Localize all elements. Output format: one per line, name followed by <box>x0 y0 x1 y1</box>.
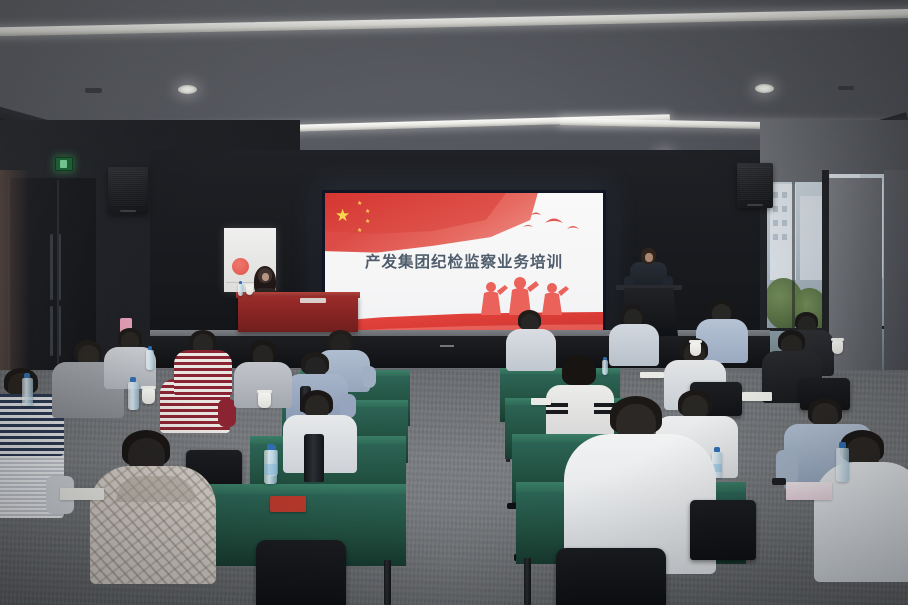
handout-document <box>531 398 551 405</box>
small-star-icon: ★ <box>357 228 362 234</box>
wristwatch <box>772 478 786 485</box>
ceramic-tea-mug <box>142 388 155 404</box>
red-draped-head-table <box>238 296 358 332</box>
big-star-icon: ★ <box>335 207 350 224</box>
conference-chair[interactable] <box>556 548 666 605</box>
pink-handout <box>786 482 832 500</box>
water-bottle <box>146 350 154 370</box>
photo-scene: ★ ★ ★ ★ ★ 产发集团纪检监察业务培训 <box>0 0 908 605</box>
small-star-icon: ★ <box>365 219 370 225</box>
water-bottle <box>264 450 277 484</box>
ceramic-tea-mug <box>690 342 701 356</box>
ceiling-vent <box>838 86 854 90</box>
flying-birds-icon <box>515 205 595 241</box>
recessed-downlight <box>755 84 774 93</box>
conference-chair[interactable] <box>690 500 756 560</box>
ceramic-tea-mug <box>832 340 843 354</box>
ceiling-vent <box>85 88 102 93</box>
water-bottle <box>836 448 849 482</box>
ceramic-tea-mug <box>246 286 253 295</box>
water-bottle <box>602 360 608 375</box>
table-leg <box>524 558 531 605</box>
red-circle-graphic <box>232 258 249 275</box>
standing-presenter-face <box>645 253 653 262</box>
stage-floor-marker <box>440 345 454 347</box>
water-bottle <box>238 284 243 296</box>
emergency-exit-sign <box>55 157 73 171</box>
slide-canvas: ★ ★ ★ ★ ★ 产发集团纪检监察业务培训 <box>325 193 603 335</box>
seated-female-host-face <box>262 273 269 281</box>
handout-document <box>640 372 664 378</box>
water-bottle <box>22 378 33 406</box>
table-leg <box>384 560 391 605</box>
small-star-icon: ★ <box>365 209 370 215</box>
conference-chair[interactable] <box>256 540 346 605</box>
led-projection-screen: ★ ★ ★ ★ ★ 产发集团纪检监察业务培训 <box>322 190 606 338</box>
running-man-icon <box>60 160 67 168</box>
recessed-downlight <box>178 85 197 94</box>
wall-speaker-right <box>737 163 773 208</box>
handout-document <box>60 488 104 500</box>
ceramic-tea-mug <box>258 392 271 408</box>
wall-speaker-left <box>108 167 148 214</box>
black-thermos <box>304 434 324 482</box>
water-bottle <box>128 382 139 410</box>
small-star-icon: ★ <box>357 201 362 207</box>
handout-document <box>742 392 772 401</box>
slide-title: 产发集团纪检监察业务培训 <box>325 250 603 272</box>
red-phone-case[interactable] <box>270 496 306 512</box>
